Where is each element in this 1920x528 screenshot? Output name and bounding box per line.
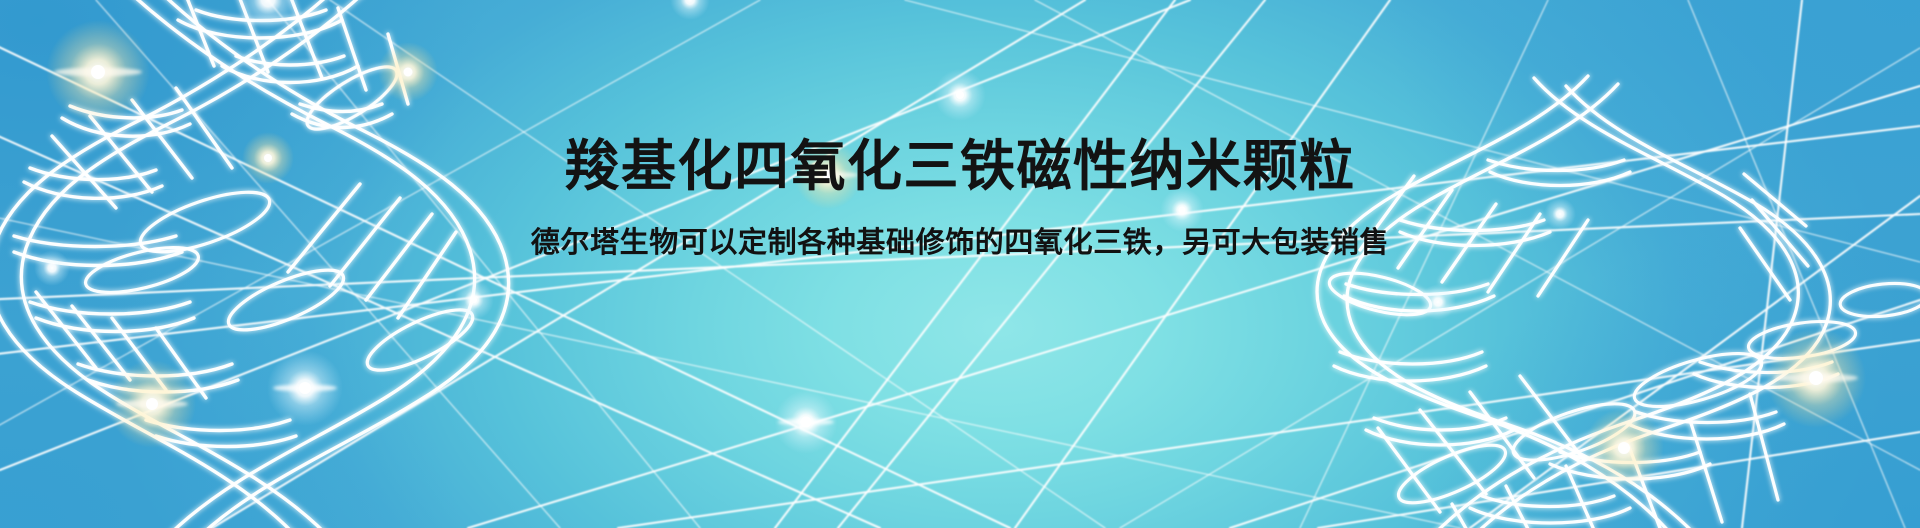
hero-banner: 羧基化四氧化三铁磁性纳米颗粒 德尔塔生物可以定制各种基础修饰的四氧化三铁，另可大…: [0, 0, 1920, 528]
glow-node-layer: [0, 0, 1920, 528]
glow-node-icon-white: [34, 0, 1576, 454]
